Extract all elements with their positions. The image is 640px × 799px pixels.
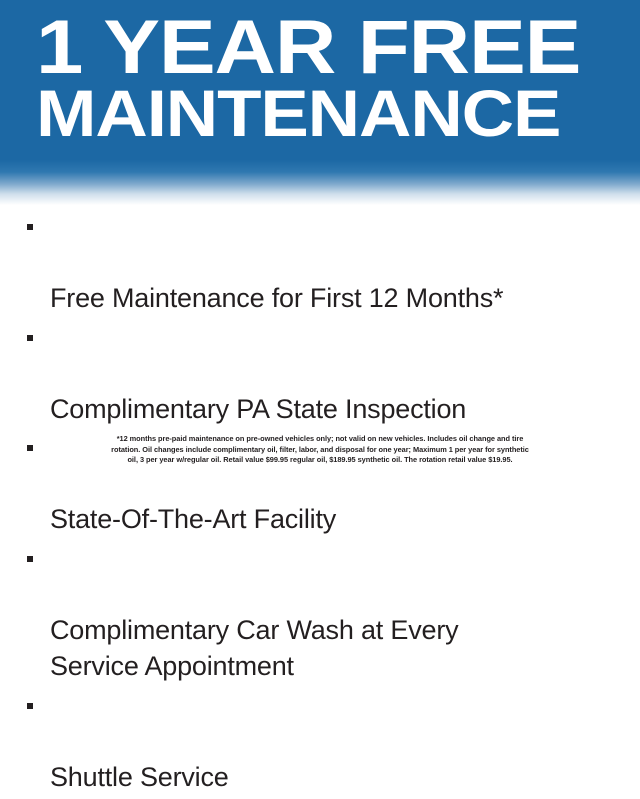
list-item: Complimentary PA State Inspection [24,320,624,428]
headline-line-2: MAINTENANCE [36,84,640,143]
list-item-label: Free Maintenance for First 12 Months* [50,283,503,313]
square-bullet-icon [27,556,33,562]
list-item: Complimentary Car Wash at Every Service … [24,541,624,685]
feature-list: Free Maintenance for First 12 Months* Co… [24,209,624,799]
square-bullet-icon [27,224,33,230]
square-bullet-icon [27,703,33,709]
headline-banner: 1 YEAR FREE MAINTENANCE [0,0,640,205]
headline-line-1: 1 YEAR FREE [36,14,640,82]
disclaimer-line-2: rotation. Oil changes include compliment… [28,445,612,456]
disclaimer-line-1: *12 months pre-paid maintenance on pre-o… [28,434,612,445]
list-item-label: Complimentary PA State Inspection [50,394,466,424]
disclaimer-line-3: oil, 3 per year w/regular oil. Retail va… [28,455,612,466]
list-item-label: Complimentary Car Wash at Every Service … [50,615,458,681]
list-item: Free Maintenance for First 12 Months* [24,209,624,317]
headline: 1 YEAR FREE MAINTENANCE [36,14,628,144]
list-item: Shuttle Service [24,688,624,796]
disclaimer-text: *12 months pre-paid maintenance on pre-o… [28,434,612,466]
list-item-label: Shuttle Service [50,762,229,792]
list-item-label: State-Of-The-Art Facility [50,504,336,534]
square-bullet-icon [27,335,33,341]
promotional-flyer: 1 YEAR FREE MAINTENANCE Free Maintenance… [0,0,640,480]
